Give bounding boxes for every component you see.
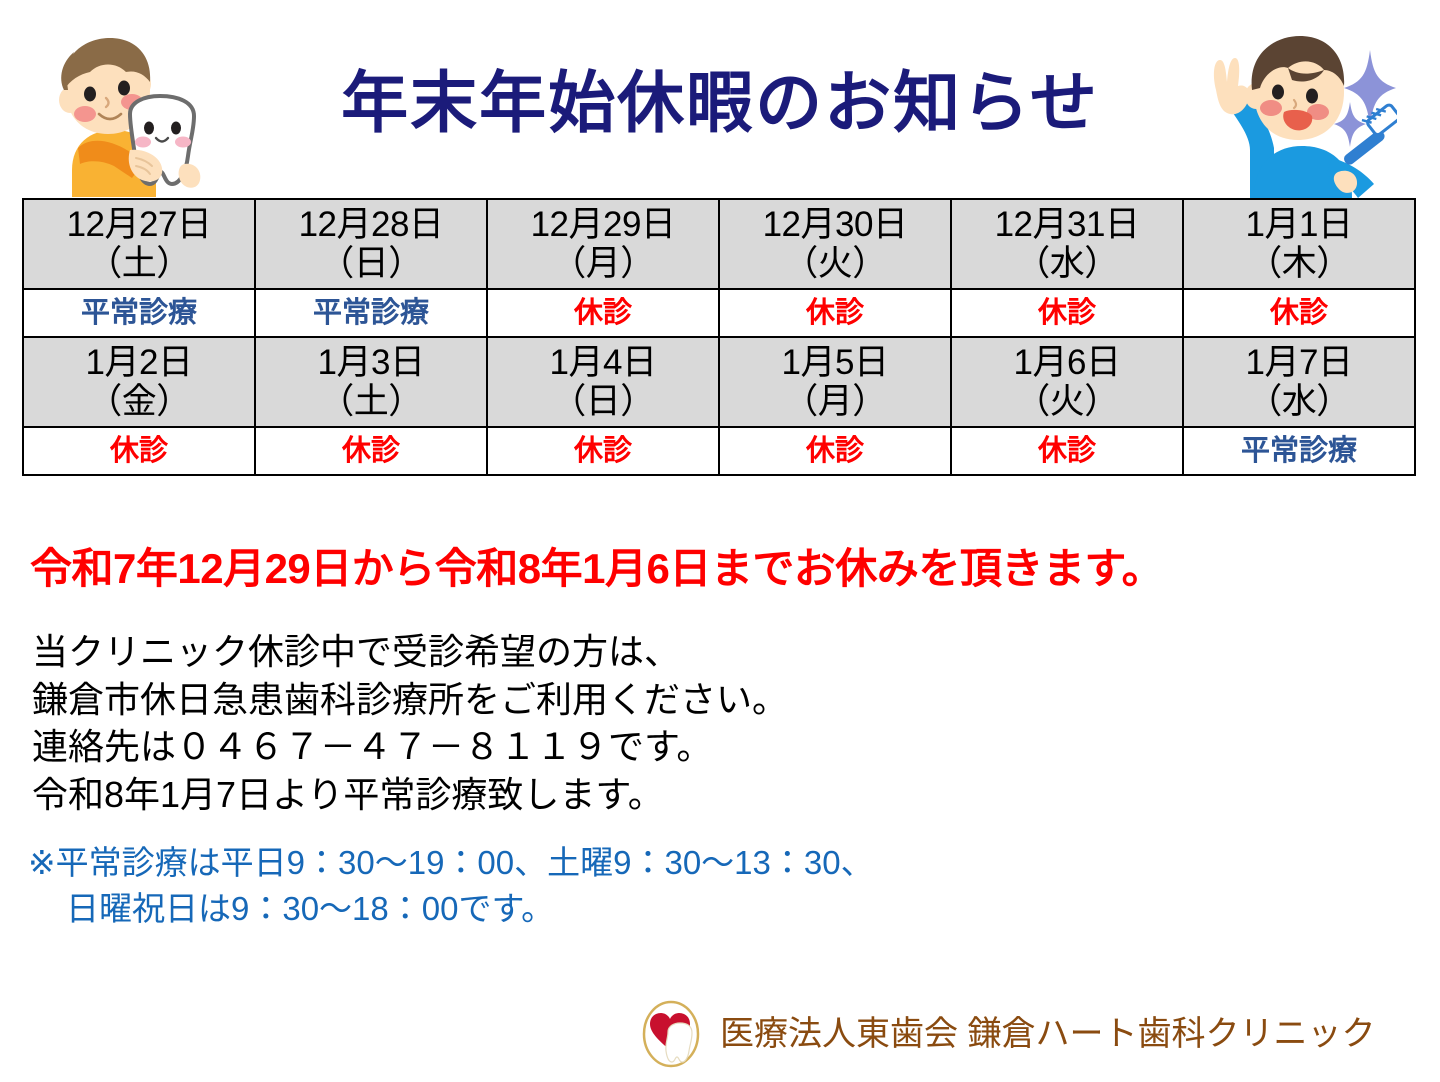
clinic-name: 医療法人東歯会 鎌倉ハート歯科クリニック	[720, 1017, 1375, 1051]
date-cell: 12月28日 （日）	[255, 199, 487, 289]
status-cell: 休診	[951, 289, 1183, 337]
table-row-dates-2: 1月2日 （金） 1月3日 （土） 1月4日 （日） 1月5日 （月） 1月6日…	[23, 337, 1415, 427]
date-text: 1月3日	[256, 343, 486, 382]
status-cell: 休診	[719, 427, 951, 475]
date-text: 1月5日	[720, 343, 950, 382]
table-row-status-1: 平常診療 平常診療 休診 休診 休診 休診	[23, 289, 1415, 337]
notice-body-line: 鎌倉市休日急患歯科診療所をご利用ください。	[32, 676, 1032, 724]
date-cell: 1月1日 （木）	[1183, 199, 1415, 289]
table-row-dates-1: 12月27日 （土） 12月28日 （日） 12月29日 （月） 12月30日 …	[23, 199, 1415, 289]
weekday-text: （金）	[24, 382, 254, 421]
notice-body: 当クリニック休診中で受診希望の方は、 鎌倉市休日急患歯科診療所をご利用ください。…	[32, 628, 1032, 818]
date-cell: 12月29日 （月）	[487, 199, 719, 289]
date-text: 1月4日	[488, 343, 718, 382]
date-cell: 1月6日 （火）	[951, 337, 1183, 427]
clinic-footer: 医療法人東歯会 鎌倉ハート歯科クリニック	[640, 998, 1420, 1070]
status-cell: 休診	[951, 427, 1183, 475]
weekday-text: （日）	[488, 382, 718, 421]
date-text: 12月30日	[720, 205, 950, 244]
weekday-text: （水）	[1184, 382, 1414, 421]
weekday-text: （火）	[952, 382, 1182, 421]
notice-body-line: 当クリニック休診中で受診希望の方は、	[32, 628, 1032, 676]
notice-body-line: 令和8年1月7日より平常診療致します。	[32, 771, 1032, 819]
date-cell: 1月5日 （月）	[719, 337, 951, 427]
boy-with-toothbrush-illustration	[1192, 30, 1397, 198]
date-text: 1月6日	[952, 343, 1182, 382]
date-text: 1月2日	[24, 343, 254, 382]
date-text: 1月7日	[1184, 343, 1414, 382]
date-text: 12月28日	[256, 205, 486, 244]
weekday-text: （火）	[720, 244, 950, 283]
status-cell: 休診	[719, 289, 951, 337]
date-text: 12月31日	[952, 205, 1182, 244]
date-cell: 1月3日 （土）	[255, 337, 487, 427]
status-cell: 休診	[1183, 289, 1415, 337]
date-cell: 1月4日 （日）	[487, 337, 719, 427]
table-row-status-2: 休診 休診 休診 休診 休診 平常診療	[23, 427, 1415, 475]
status-cell: 平常診療	[1183, 427, 1415, 475]
status-cell: 休診	[255, 427, 487, 475]
weekday-text: （日）	[256, 244, 486, 283]
weekday-text: （月）	[488, 244, 718, 283]
weekday-text: （月）	[720, 382, 950, 421]
heart-tooth-logo	[640, 1000, 702, 1068]
weekday-text: （木）	[1184, 244, 1414, 283]
hours-note-line-1: ※平常診療は平日9：30〜19：00、土曜9：30〜13：30、	[28, 840, 1128, 886]
date-cell: 1月2日 （金）	[23, 337, 255, 427]
hours-note-line-2: 日曜祝日は9：30〜18：00です。	[28, 886, 1128, 932]
date-text: 1月1日	[1184, 205, 1414, 244]
date-cell: 12月31日 （水）	[951, 199, 1183, 289]
business-hours-note: ※平常診療は平日9：30〜19：00、土曜9：30〜13：30、 日曜祝日は9：…	[28, 840, 1128, 931]
status-cell: 休診	[23, 427, 255, 475]
status-cell: 休診	[487, 289, 719, 337]
status-cell: 休診	[487, 427, 719, 475]
holiday-period-headline: 令和7年12月29日から令和8年1月6日までお休みを頂きます。	[30, 546, 1410, 592]
page-header: 年末年始休暇のお知らせ	[0, 0, 1440, 196]
status-cell: 平常診療	[23, 289, 255, 337]
weekday-text: （土）	[24, 244, 254, 283]
weekday-text: （土）	[256, 382, 486, 421]
date-cell: 12月30日 （火）	[719, 199, 951, 289]
weekday-text: （水）	[952, 244, 1182, 283]
notice-body-line-phone: 連絡先は０４６７－４７－８１１９です。	[32, 723, 1032, 771]
date-text: 12月27日	[24, 205, 254, 244]
status-cell: 平常診療	[255, 289, 487, 337]
date-text: 12月29日	[488, 205, 718, 244]
date-cell: 12月27日 （土）	[23, 199, 255, 289]
date-cell: 1月7日 （水）	[1183, 337, 1415, 427]
holiday-schedule-table: 12月27日 （土） 12月28日 （日） 12月29日 （月） 12月30日 …	[22, 198, 1416, 476]
